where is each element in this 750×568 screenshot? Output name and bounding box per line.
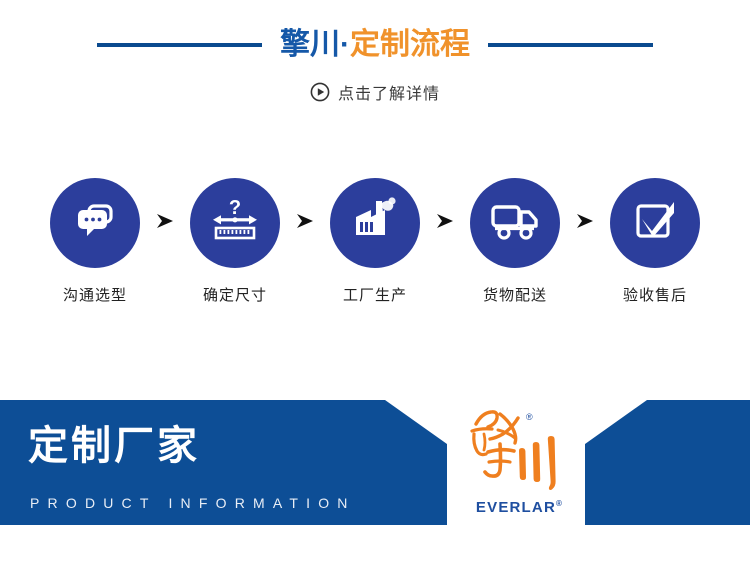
step-label: 确定尺寸 [203,284,267,305]
arrow-right-icon [154,211,176,236]
chat-bubbles-icon [70,196,120,251]
step-arrow-separator [150,178,180,268]
page-title: 擎川·定制流程 [280,30,470,60]
step-item[interactable]: 工厂生产 [320,178,430,305]
step-arrow-separator [430,178,460,268]
arrow-right-icon [294,211,316,236]
title-rule-right [488,43,653,47]
subtitle-row[interactable]: 点击了解详情 [0,82,750,107]
step-label: 工厂生产 [343,284,407,305]
step-item[interactable]: 货物配送 [460,178,570,305]
product-information-banner: 定制厂家 PRODUCT INFORMATION [0,400,447,525]
process-steps: 沟通选型 ? [0,178,750,305]
page-header: 擎川·定制流程 点击了解详情 [0,0,750,125]
step-icon-circle [330,178,420,268]
banner-right-block [585,400,750,525]
arrow-right-icon [434,211,456,236]
step-label: 货物配送 [483,284,547,305]
step-icon-circle [470,178,560,268]
step-icon-circle [610,178,700,268]
step-icon-circle: ? [190,178,280,268]
factory-icon [349,195,401,252]
svg-text:?: ? [229,197,241,219]
registered-mark: ® [556,499,563,508]
step-arrow-separator [290,178,320,268]
step-item[interactable]: ? [180,178,290,305]
step-label: 沟通选型 [63,284,127,305]
page-title-highlight: 定制流程 [350,28,470,61]
step-label: 验收售后 [623,284,687,305]
logo-wordmark: EVERLAR® [467,500,572,515]
brand-logo: ® EVERLAR® [462,404,572,526]
checkbox-check-icon [629,195,681,252]
page-title-brand: 擎川· [280,28,350,61]
delivery-truck-icon [488,194,542,253]
banner-title: 定制厂家 [28,426,200,466]
ruler-measure-question-icon: ? [209,195,261,252]
logo-wordmark-text: EVERLAR [476,499,556,516]
step-arrow-separator [570,178,600,268]
subtitle-text: 点击了解详情 [338,87,440,103]
banner-subtitle: PRODUCT INFORMATION [30,496,356,510]
step-icon-circle [50,178,140,268]
title-rule-left [97,43,262,47]
svg-text:®: ® [526,412,533,422]
title-row: 擎川·定制流程 [0,22,750,68]
step-item[interactable]: 验收售后 [600,178,710,305]
play-circle-icon[interactable] [310,82,330,107]
logo-mark-icon: ® [462,404,572,502]
arrow-right-icon [574,211,596,236]
step-item[interactable]: 沟通选型 [40,178,150,305]
